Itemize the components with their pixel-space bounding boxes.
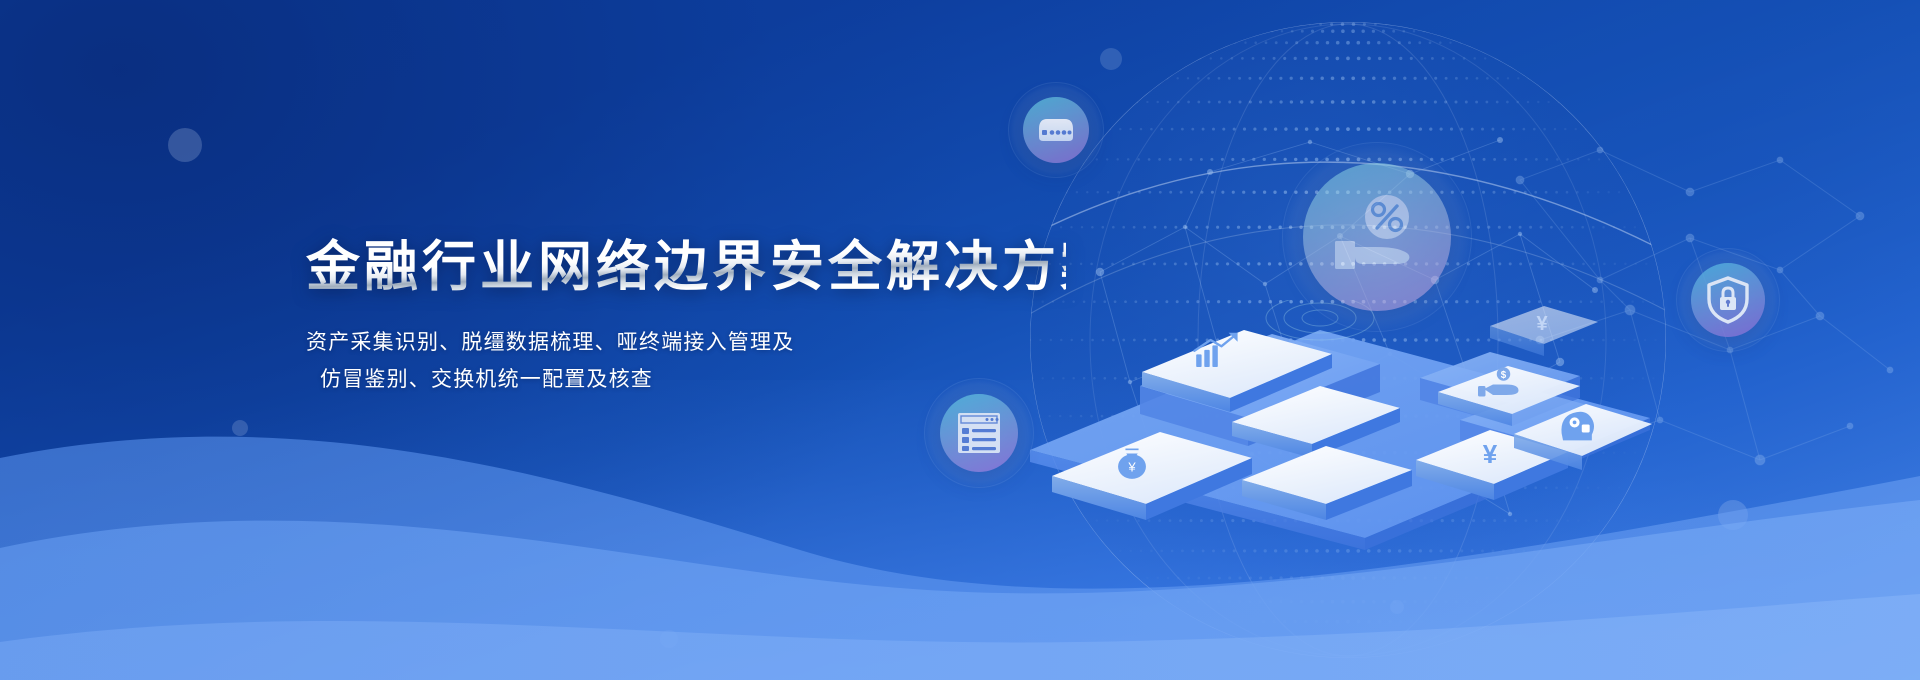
banner-text-block: 金融行业网络边界安全解决方案 资产采集识别、脱缰数据梳理、哑终端接入管理及 仿冒… (306, 236, 1066, 399)
banner-subtitle: 资产采集识别、脱缰数据梳理、哑终端接入管理及 仿冒鉴别、交换机统一配置及核查 (306, 298, 1066, 399)
bubble-shield-lock (1676, 248, 1780, 352)
solution-banner: ¥ (0, 0, 1920, 680)
shield-lock-icon (1706, 275, 1750, 325)
subtitle-line-1: 资产采集识别、脱缰数据梳理、哑终端接入管理及 (306, 324, 1066, 361)
banner-title: 金融行业网络边界安全解决方案 (306, 236, 1066, 298)
bottom-wave-decoration (0, 380, 1920, 680)
tile-yen-top: ¥ (1490, 306, 1598, 356)
bubble-router-switch (1008, 82, 1104, 178)
bokeh-circle-1 (1100, 48, 1122, 70)
bokeh-circle-0 (168, 128, 202, 162)
router-switch-icon (1035, 115, 1077, 145)
subtitle-line-2: 仿冒鉴别、交换机统一配置及核查 (306, 361, 1066, 398)
hand-percent-coin-icon (1329, 191, 1425, 283)
svg-text:¥: ¥ (1536, 313, 1548, 335)
bubble-percent-hand (1282, 142, 1472, 332)
